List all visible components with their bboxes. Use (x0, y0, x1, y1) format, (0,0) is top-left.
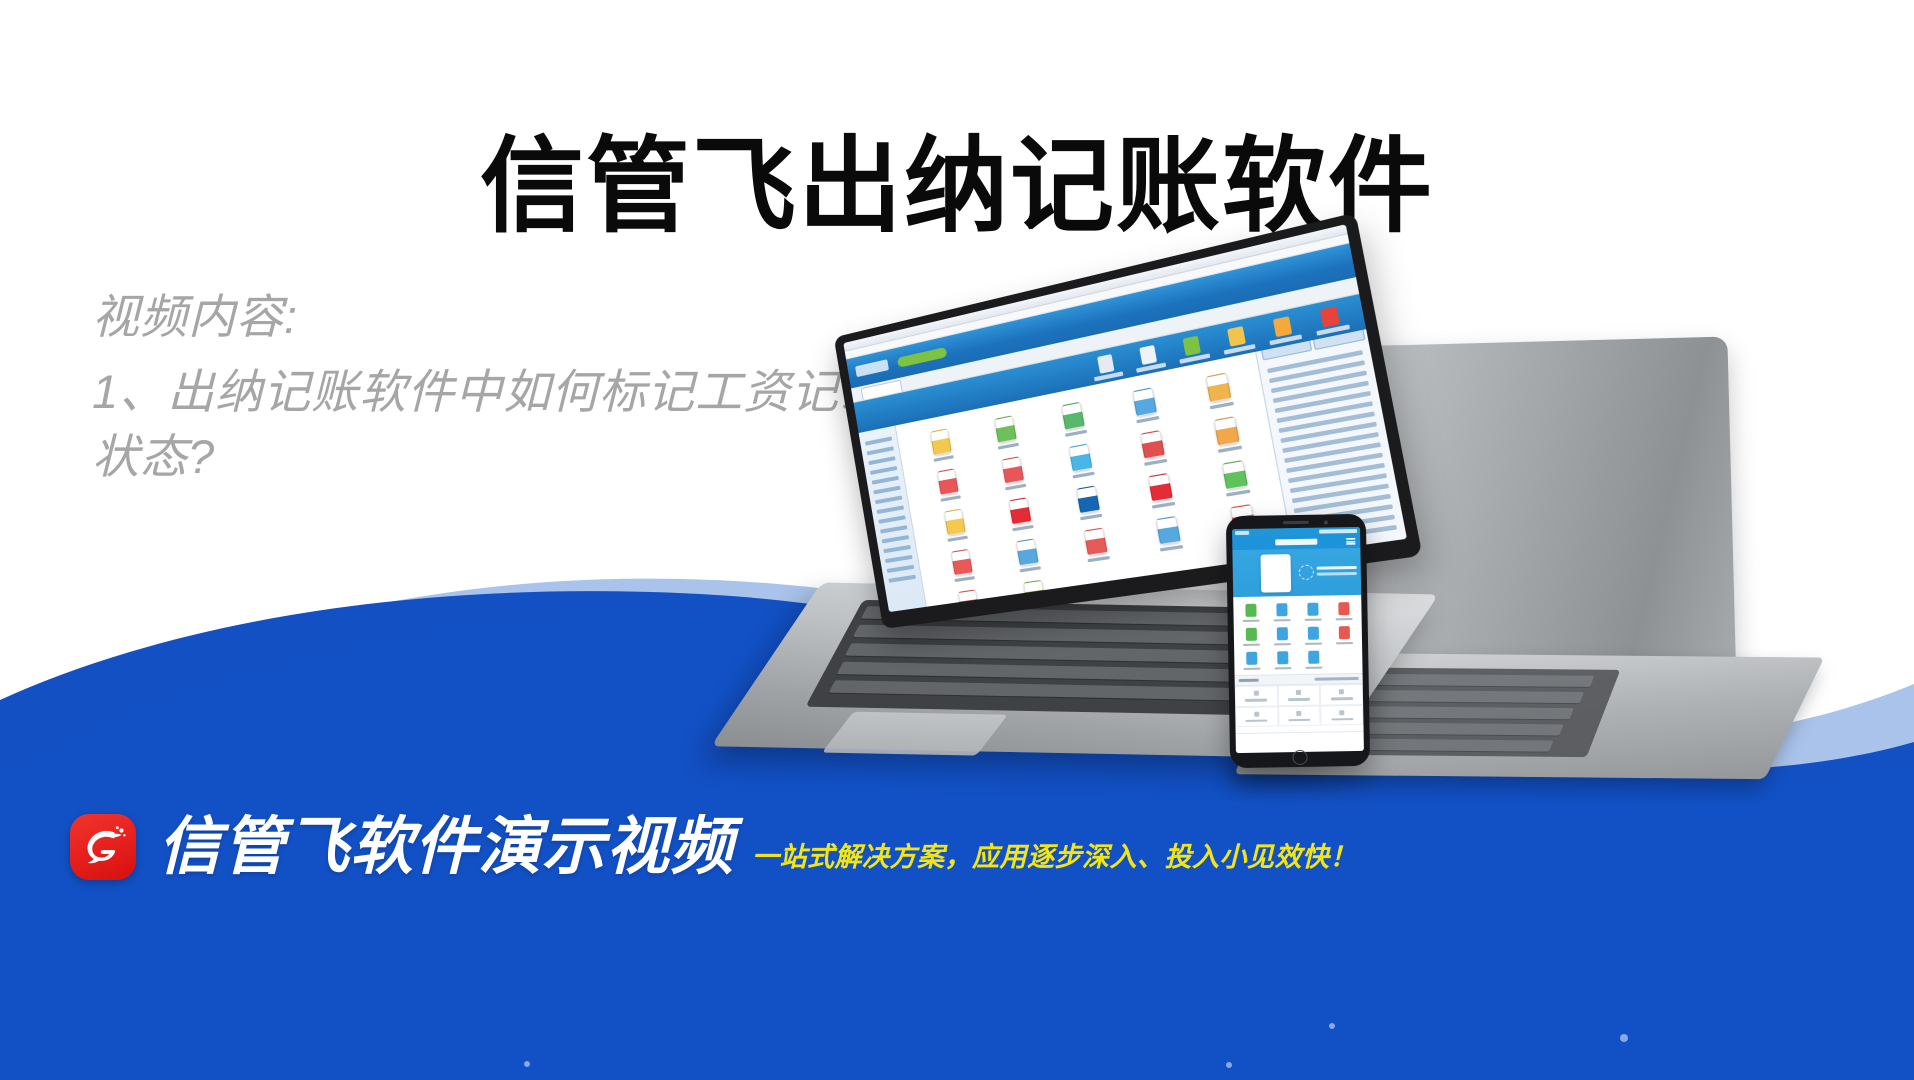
section-filters[interactable] (1315, 677, 1359, 681)
module-label (1073, 471, 1095, 478)
stat-label (1288, 698, 1310, 701)
module-icon (1009, 497, 1032, 525)
phone-stats-grid (1235, 684, 1364, 727)
phone-hero-banner (1232, 548, 1361, 597)
phone-stat-item[interactable] (1235, 685, 1278, 706)
module-label (1144, 459, 1167, 466)
phone-app-label (1243, 619, 1260, 622)
smartphone (1226, 514, 1370, 768)
module-icon (1147, 473, 1172, 502)
module-icon (944, 509, 966, 536)
tab-home[interactable] (1236, 734, 1268, 754)
footer-bar: 信管飞软件演示视频 一站式解决方案，应用逐步深入、投入小见效快！ (0, 880, 1914, 1080)
sidebar-item[interactable] (883, 545, 911, 553)
stat-label (1246, 719, 1268, 722)
phone-app-icon (1276, 603, 1287, 616)
tab-workbench[interactable] (1268, 733, 1300, 753)
tab-profile[interactable] (1332, 732, 1364, 752)
stat-value (1296, 690, 1301, 695)
brand-lockup: 信管飞软件演示视频 (70, 814, 734, 880)
phone-app-label (1305, 618, 1322, 621)
module-label (1136, 416, 1159, 423)
module-icon (1140, 430, 1165, 459)
decor-dot (524, 1061, 530, 1067)
phone-app-icon (1339, 626, 1350, 639)
phone-app-label (1336, 642, 1353, 645)
phone-stat-item[interactable] (1278, 705, 1321, 726)
phone-app-item[interactable] (1328, 599, 1359, 624)
phone-app-icon (1246, 652, 1257, 665)
phone-app-item[interactable] (1266, 600, 1297, 625)
module-label (1226, 490, 1250, 497)
phone-app-item[interactable] (1297, 599, 1328, 624)
phone-app-item[interactable] (1298, 623, 1329, 648)
module-label (1209, 402, 1233, 410)
xinguanfei-bird-logo-icon (70, 814, 136, 880)
module-label (1218, 446, 1242, 453)
brand-tagline: 一站式解决方案，应用逐步深入、投入小见效快！ (752, 835, 1357, 874)
phone-app-icon (1308, 651, 1319, 664)
phone-app-icon (1338, 602, 1349, 615)
sidebar-item[interactable] (882, 535, 909, 543)
module-label (1159, 545, 1182, 552)
module-icon (1001, 456, 1024, 484)
phone-stat-item[interactable] (1320, 684, 1363, 705)
phone-stat-item[interactable] (1277, 685, 1320, 706)
hero-caption (1317, 566, 1357, 570)
stat-value (1339, 689, 1344, 694)
stat-value (1254, 711, 1259, 716)
module-icon (937, 468, 959, 495)
sidebar-item[interactable] (870, 466, 897, 475)
module-label (998, 443, 1019, 450)
sidebar-item[interactable] (888, 575, 916, 583)
ribbon-icon[interactable] (1183, 336, 1201, 356)
phone-app-label (1274, 619, 1291, 622)
module-label (1013, 525, 1034, 531)
phone-app-label (1243, 667, 1260, 670)
page-title: 信管飞出纳记账软件 (0, 128, 1914, 247)
sidebar-item[interactable] (875, 495, 902, 504)
sidebar-item[interactable] (868, 456, 895, 465)
sidebar-item[interactable] (873, 486, 900, 495)
hero-sync-icon (1299, 565, 1314, 580)
stat-label (1331, 718, 1353, 721)
phone-app-label (1243, 643, 1260, 646)
phone-app-label (1305, 666, 1322, 669)
module-icon (1084, 527, 1108, 555)
stat-value (1297, 710, 1302, 715)
module-icon (1205, 372, 1231, 402)
hamburger-menu-icon[interactable] (1346, 538, 1355, 545)
module-icon (1221, 460, 1247, 490)
phone-app-item[interactable] (1267, 624, 1298, 649)
phone-screen (1232, 527, 1364, 753)
module-icon (1213, 416, 1239, 446)
phone-stat-item[interactable] (1320, 704, 1363, 725)
phone-home-button[interactable] (1292, 750, 1307, 765)
phone-app-title (1275, 539, 1317, 546)
hero-phone-illustration (1260, 554, 1291, 593)
module-icon (1061, 402, 1085, 431)
laptop-front-trackpad (822, 712, 1008, 756)
phone-app-item[interactable] (1329, 623, 1360, 648)
module-label (1080, 514, 1102, 521)
module-icon (1016, 538, 1039, 566)
phone-section-header (1235, 673, 1363, 686)
module-label (1151, 502, 1174, 509)
phone-app-label (1274, 667, 1291, 670)
sidebar-item[interactable] (877, 505, 904, 514)
stat-value (1339, 710, 1344, 715)
brand-name: 信管飞软件演示视频 (158, 816, 734, 879)
module-icon (951, 549, 973, 576)
phone-app-item[interactable] (1236, 649, 1267, 674)
tab-reports[interactable] (1300, 732, 1332, 752)
phone-app-grid (1233, 595, 1362, 675)
module-label (947, 536, 967, 542)
decor-dot (1329, 1023, 1335, 1029)
stat-label (1331, 697, 1353, 700)
ribbon-icon[interactable] (1320, 306, 1340, 327)
module-icon (1132, 387, 1157, 417)
ribbon-icon[interactable] (1139, 345, 1157, 365)
module-label (1005, 484, 1026, 491)
ribbon-icon[interactable] (1227, 326, 1246, 347)
module-label (1088, 556, 1110, 562)
module-icon (1155, 516, 1180, 545)
sidebar-item[interactable] (887, 565, 915, 573)
stat-label (1288, 718, 1310, 721)
phone-camera-icon (1324, 520, 1328, 524)
decor-dot (1226, 1062, 1232, 1068)
sidebar-item[interactable] (878, 515, 905, 524)
app-license-badge (897, 347, 948, 368)
stat-label (1245, 699, 1267, 702)
module-label (1020, 566, 1041, 572)
ribbon-icon[interactable] (1097, 354, 1114, 374)
statusbar-indicators (1319, 528, 1357, 533)
module-icon (1023, 580, 1046, 607)
decor-dot (1620, 1034, 1628, 1042)
phone-app-icon (1308, 627, 1319, 640)
module-icon (958, 589, 980, 606)
sidebar-item[interactable] (885, 555, 913, 563)
module-label (941, 495, 961, 502)
phone-app-icon (1245, 604, 1256, 617)
module-label (954, 576, 975, 582)
module-label (1065, 430, 1087, 437)
statusbar-carrier (1235, 530, 1249, 534)
module-label (934, 455, 954, 462)
phone-app-item[interactable] (1298, 647, 1329, 672)
section-title (1239, 679, 1259, 682)
ribbon-icon[interactable] (1273, 316, 1292, 337)
sidebar-item[interactable] (865, 436, 892, 445)
module-icon (1069, 443, 1093, 472)
sidebar-item[interactable] (872, 476, 899, 485)
phone-app-item[interactable] (1267, 648, 1298, 673)
phone-speaker (1283, 521, 1309, 524)
stat-value (1254, 691, 1259, 696)
phone-app-label (1274, 643, 1291, 646)
sidebar-item[interactable] (880, 525, 907, 533)
phone-app-icon (1307, 603, 1318, 616)
phone-app-icon (1246, 628, 1257, 641)
phone-app-icon (1277, 651, 1288, 664)
phone-app-item[interactable] (1235, 601, 1266, 626)
phone-app-label (1336, 618, 1353, 621)
phone-stat-item[interactable] (1235, 706, 1278, 727)
module-icon (1076, 485, 1100, 513)
presentation-slide: 信管飞出纳记账软件 视频内容: 1、出纳记账软件中如何标记工资记录签领 状态? (0, 0, 1914, 1080)
app-logo-icon (855, 359, 889, 377)
sidebar-item[interactable] (867, 446, 894, 455)
phone-app-label (1305, 642, 1322, 645)
module-icon (994, 415, 1017, 443)
module-icon (930, 428, 952, 455)
phone-app-icon (1277, 627, 1288, 640)
phone-app-item[interactable] (1236, 625, 1267, 650)
